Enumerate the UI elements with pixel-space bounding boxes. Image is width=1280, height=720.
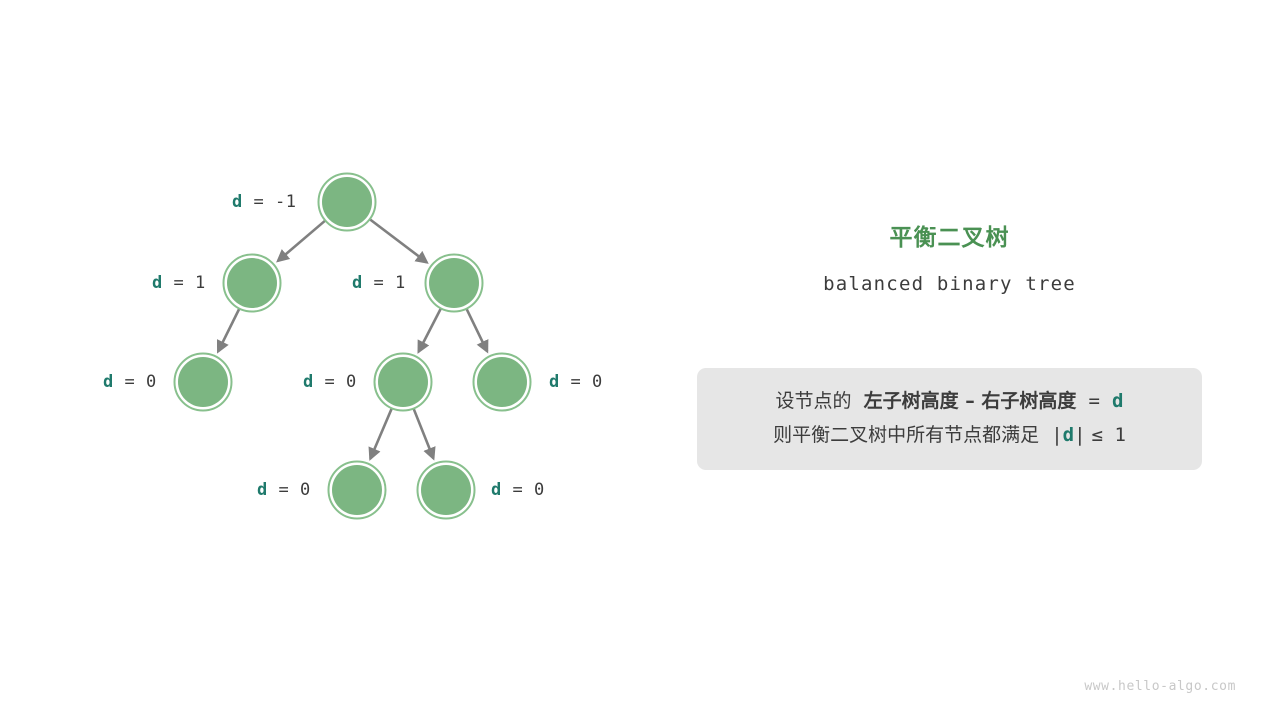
- abs-bar-open: |: [1051, 424, 1062, 446]
- tree-node: [426, 255, 483, 312]
- tree-node: [319, 174, 376, 231]
- definition-variable-d: d: [1112, 390, 1123, 412]
- balance-factor-variable: d: [152, 273, 163, 293]
- definition-equals: =: [1088, 390, 1099, 412]
- tree-edge: [414, 409, 434, 458]
- tree-node: [474, 354, 531, 411]
- definition-prefix-2: 则平衡二叉树中所有节点都满足: [773, 424, 1039, 446]
- balance-factor-variable: d: [303, 372, 314, 392]
- tree-edge: [370, 409, 391, 459]
- tree-node: [418, 462, 475, 519]
- balance-factor-label: d = 0: [491, 482, 545, 499]
- page-subtitle: balanced binary tree: [697, 273, 1202, 295]
- balance-factor-variable: d: [352, 273, 363, 293]
- site-watermark: www.hello-algo.com: [1084, 679, 1236, 694]
- balance-factor-label: d = 0: [549, 374, 603, 391]
- tree-node-layer: [175, 174, 531, 519]
- tree-node-fill: [178, 357, 228, 407]
- tree-node: [329, 462, 386, 519]
- info-panel: 平衡二叉树 balanced binary tree: [697, 225, 1202, 295]
- tree-edge: [419, 309, 441, 352]
- balance-factor-label: d = 0: [257, 482, 311, 499]
- definition-box: 设节点的 左子树高度 – 右子树高度 = d 则平衡二叉树中所有节点都满足 |d…: [697, 368, 1202, 470]
- balance-factor-variable: d: [257, 480, 268, 500]
- balance-factor-value: = 0: [268, 480, 311, 500]
- balance-factor-label: d = 0: [303, 374, 357, 391]
- tree-edge: [218, 309, 239, 352]
- tree-node-fill: [322, 177, 372, 227]
- tree-node-fill: [227, 258, 277, 308]
- abs-bar-close: |: [1074, 424, 1085, 446]
- tree-node: [375, 354, 432, 411]
- tree-node-fill: [477, 357, 527, 407]
- diagram-canvas: d = -1d = 1d = 1d = 0d = 0d = 0d = 0d = …: [0, 0, 1280, 720]
- balance-factor-variable: d: [103, 372, 114, 392]
- tree-edge: [467, 309, 488, 351]
- definition-variable-d-abs: d: [1063, 424, 1074, 446]
- tree-node: [224, 255, 281, 312]
- balance-factor-value: = -1: [243, 192, 297, 212]
- tree-node-fill: [378, 357, 428, 407]
- balance-factor-label: d = 1: [152, 275, 206, 292]
- definition-prefix-1: 设节点的: [776, 390, 852, 412]
- balance-factor-value: = 0: [314, 372, 357, 392]
- page-title: 平衡二叉树: [697, 225, 1202, 253]
- balance-factor-variable: d: [491, 480, 502, 500]
- balance-factor-value: = 1: [163, 273, 206, 293]
- tree-node-fill: [332, 465, 382, 515]
- balance-factor-label: d = -1: [232, 194, 296, 211]
- balance-factor-value: = 0: [560, 372, 603, 392]
- binary-tree-graphic: [0, 0, 1280, 720]
- definition-line-1: 设节点的 左子树高度 – 右子树高度 = d: [697, 384, 1202, 418]
- balance-factor-value: = 0: [114, 372, 157, 392]
- tree-node: [175, 354, 232, 411]
- balance-factor-variable: d: [549, 372, 560, 392]
- tree-edge: [370, 220, 427, 263]
- tree-node-fill: [429, 258, 479, 308]
- balance-factor-value: = 1: [363, 273, 406, 293]
- definition-emphasis: 左子树高度 – 右子树高度: [864, 390, 1077, 412]
- balance-factor-label: d = 0: [103, 374, 157, 391]
- balance-factor-variable: d: [232, 192, 243, 212]
- definition-line-2: 则平衡二叉树中所有节点都满足 |d| ≤ 1: [697, 418, 1202, 452]
- tree-edge: [278, 221, 325, 261]
- tree-node-fill: [421, 465, 471, 515]
- balance-factor-value: = 0: [502, 480, 545, 500]
- definition-relation: ≤ 1: [1092, 424, 1126, 446]
- balance-factor-label: d = 1: [352, 275, 406, 292]
